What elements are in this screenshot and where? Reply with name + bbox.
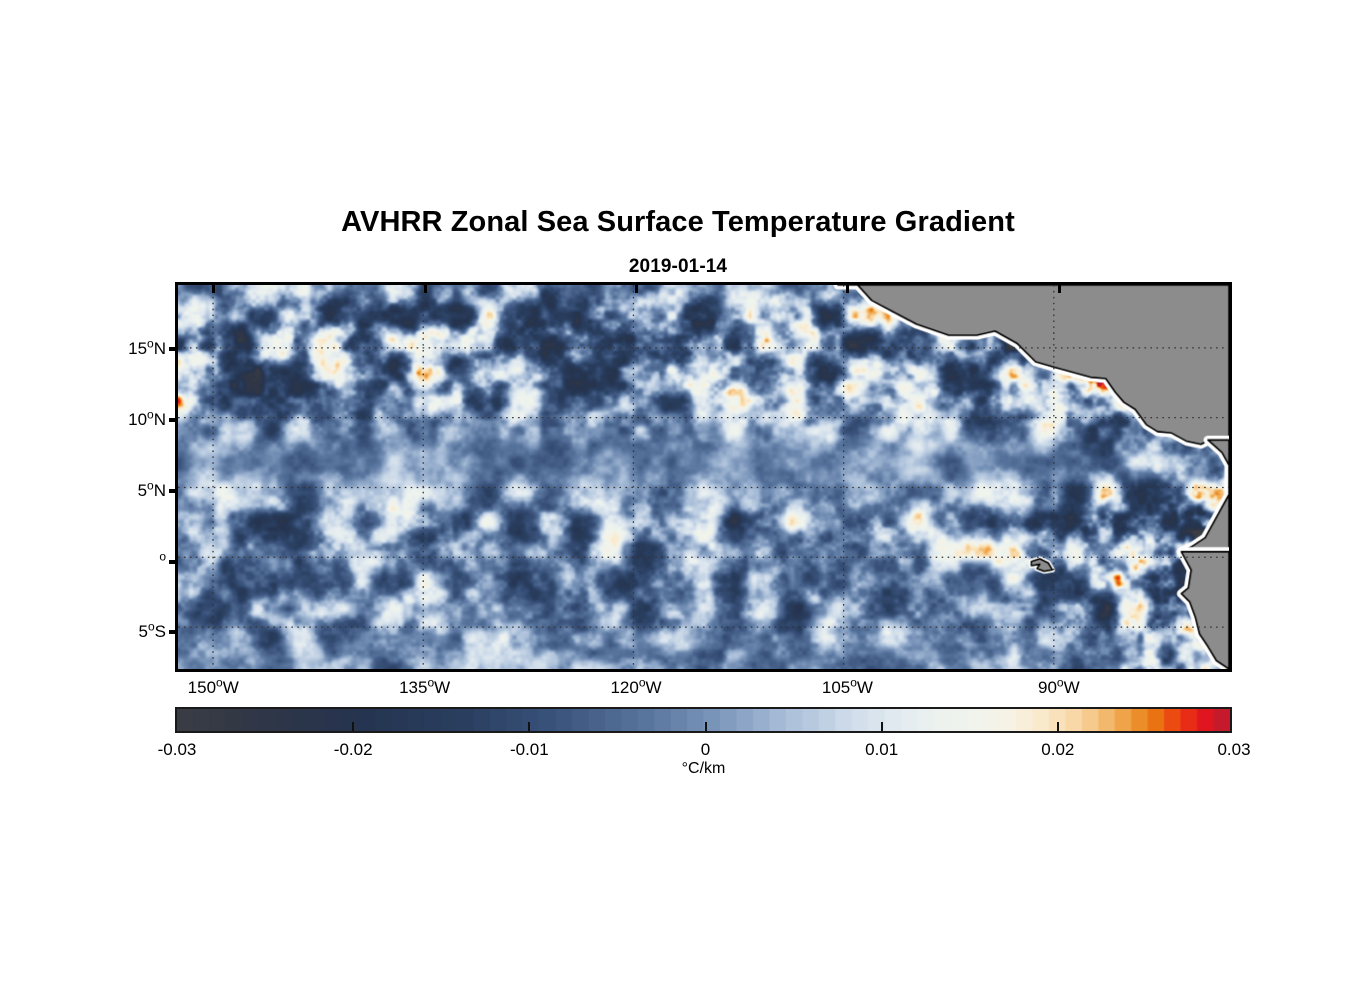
y-tick-mark bbox=[169, 630, 178, 634]
colorbar-tick-label-1: -0.02 bbox=[334, 740, 373, 760]
x-tick-label-4: 90oW bbox=[1038, 678, 1080, 698]
colorbar-unit-label: °C/km bbox=[175, 760, 1232, 778]
x-tick-mark bbox=[424, 285, 427, 293]
x-tick-mark bbox=[1058, 285, 1061, 293]
colorbar-tick-mark bbox=[528, 722, 530, 731]
y-tick-label-1: 10oN bbox=[128, 410, 166, 430]
y-tick-label-3: o bbox=[159, 552, 166, 572]
x-tick-mark bbox=[212, 285, 215, 293]
figure-canvas: AVHRR Zonal Sea Surface Temperature Grad… bbox=[0, 0, 1356, 1000]
colorbar-tick-mark bbox=[881, 722, 883, 731]
grid-lines bbox=[178, 285, 1229, 669]
y-tick-label-2: 5oN bbox=[138, 481, 166, 501]
colorbar-tick-label-3: 0 bbox=[701, 740, 710, 760]
colorbar-tick-mark bbox=[352, 722, 354, 731]
colorbar-tick-mark bbox=[1057, 722, 1059, 731]
chart-subtitle: 2019-01-14 bbox=[0, 256, 1356, 278]
x-tick-label-3: 105oW bbox=[822, 678, 873, 698]
colorbar-tick-label-2: -0.01 bbox=[510, 740, 549, 760]
map-plot-area: 15oN10oN5oNo5oS150oW135oW120oW105oW90oW bbox=[175, 282, 1232, 672]
x-tick-label-1: 135oW bbox=[399, 678, 450, 698]
y-tick-mark bbox=[169, 560, 178, 564]
colorbar: -0.03-0.02-0.0100.010.020.03 bbox=[175, 707, 1232, 733]
x-tick-mark bbox=[846, 285, 849, 293]
x-tick-label-0: 150oW bbox=[188, 678, 239, 698]
colorbar-gradient bbox=[177, 709, 1230, 731]
colorbar-tick-label-6: 0.03 bbox=[1217, 740, 1250, 760]
y-tick-label-0: 15oN bbox=[128, 339, 166, 359]
page-title: AVHRR Zonal Sea Surface Temperature Grad… bbox=[0, 206, 1356, 239]
colorbar-tick-mark bbox=[705, 722, 707, 731]
x-tick-mark bbox=[635, 285, 638, 293]
y-tick-mark bbox=[169, 347, 178, 351]
colorbar-tick-label-0: -0.03 bbox=[158, 740, 197, 760]
y-tick-mark bbox=[169, 418, 178, 422]
colorbar-tick-label-5: 0.02 bbox=[1041, 740, 1074, 760]
y-tick-mark bbox=[169, 489, 178, 493]
colorbar-tick-label-4: 0.01 bbox=[865, 740, 898, 760]
x-tick-label-2: 120oW bbox=[610, 678, 661, 698]
y-tick-label-4: 5oS bbox=[139, 622, 167, 642]
